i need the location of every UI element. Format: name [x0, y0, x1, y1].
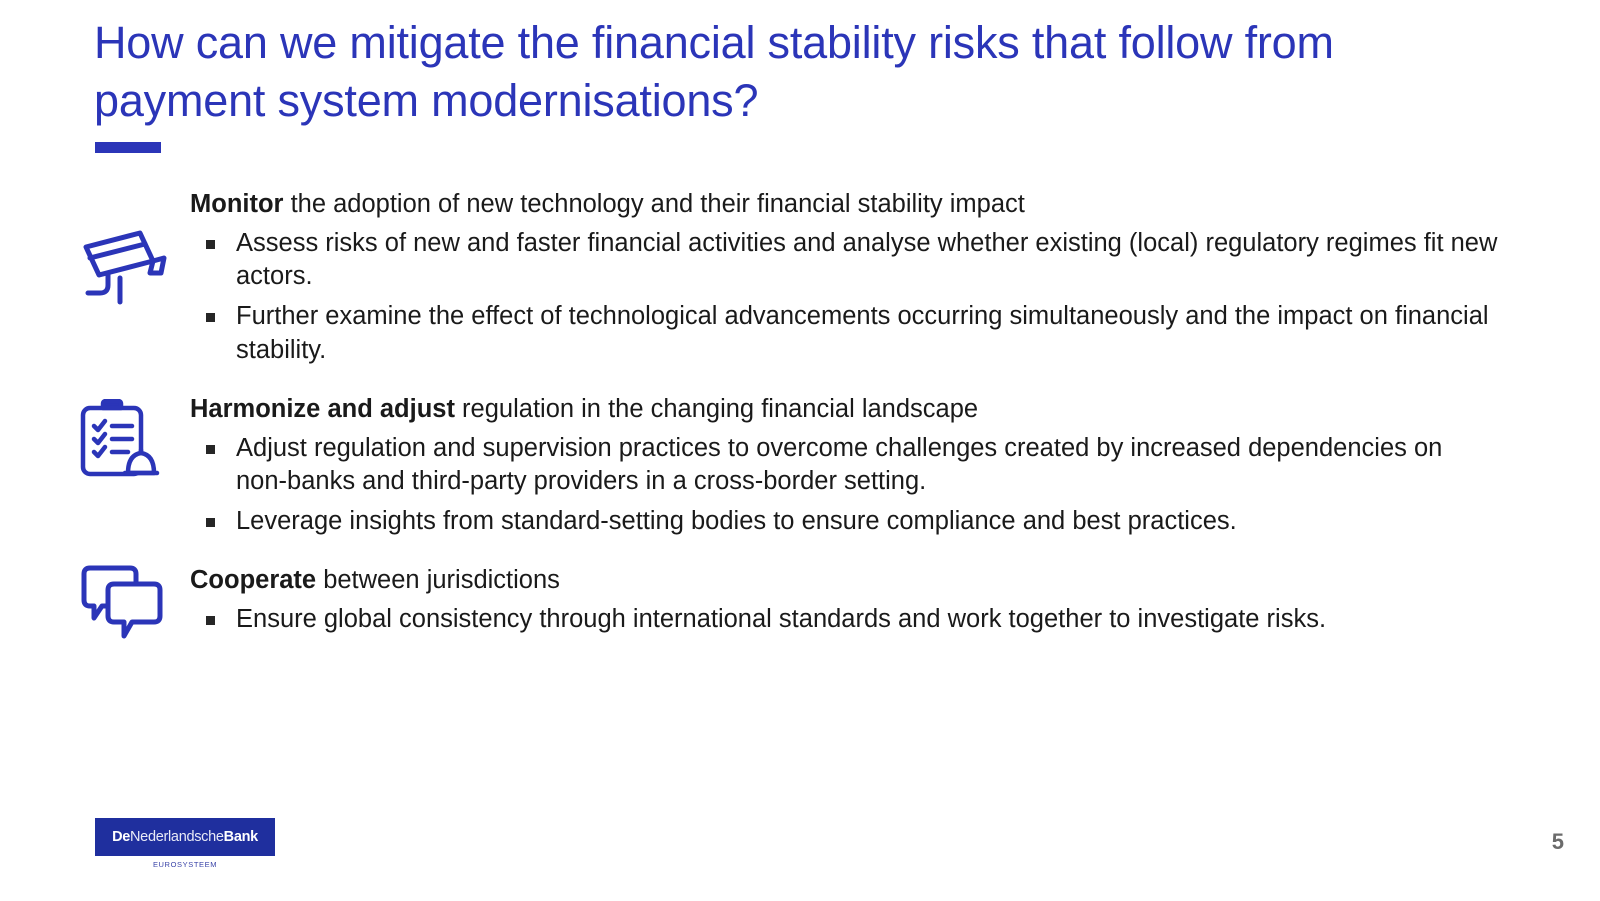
icon-cell — [0, 393, 190, 481]
logo: DeNederlandscheBank EUROSYSTEEM — [95, 818, 275, 869]
icon-cell — [0, 564, 190, 644]
bullet-square-icon — [206, 240, 215, 249]
logo-mid: Nederlandsche — [130, 829, 224, 845]
list-item-text: Ensure global consistency through intern… — [236, 605, 1326, 633]
section-heading-lead: Monitor — [190, 190, 283, 218]
section-harmonize: Harmonize and adjust regulation in the c… — [0, 393, 1600, 539]
logo-text: DeNederlandscheBank — [112, 829, 258, 845]
section-heading-rest: between jurisdictions — [316, 566, 560, 594]
section-heading: Monitor the adoption of new technology a… — [190, 188, 1540, 221]
logo-suffix: Bank — [224, 829, 258, 845]
section-heading-lead: Cooperate — [190, 566, 316, 594]
section-cooperate: Cooperate between jurisdictions Ensure g… — [0, 564, 1600, 644]
bullet-list: Ensure global consistency through intern… — [190, 603, 1540, 636]
page-title: How can we mitigate the financial stabil… — [94, 14, 1514, 129]
section-monitor: Monitor the adoption of new technology a… — [0, 188, 1600, 367]
list-item: Assess risks of new and faster financial… — [190, 227, 1500, 293]
slide: How can we mitigate the financial stabil… — [0, 0, 1600, 901]
logo-box: DeNederlandscheBank — [95, 818, 275, 856]
clipboard-bell-icon — [78, 399, 164, 481]
list-item-text: Assess risks of new and faster financial… — [236, 229, 1497, 290]
icon-cell — [0, 188, 190, 308]
section-text: Harmonize and adjust regulation in the c… — [190, 393, 1600, 539]
list-item: Ensure global consistency through intern… — [190, 603, 1500, 636]
page-number: 5 — [1552, 829, 1564, 855]
section-text: Cooperate between jurisdictions Ensure g… — [190, 564, 1600, 636]
section-heading-rest: regulation in the changing financial lan… — [455, 395, 978, 423]
content-area: Monitor the adoption of new technology a… — [0, 188, 1600, 644]
section-heading-rest: the adoption of new technology and their… — [283, 190, 1024, 218]
section-text: Monitor the adoption of new technology a… — [190, 188, 1600, 367]
section-heading: Cooperate between jurisdictions — [190, 564, 1540, 597]
title-block: How can we mitigate the financial stabil… — [94, 14, 1514, 129]
list-item: Further examine the effect of technologi… — [190, 300, 1500, 366]
list-item: Leverage insights from standard-setting … — [190, 505, 1500, 538]
list-item-text: Leverage insights from standard-setting … — [236, 507, 1237, 535]
speech-bubbles-icon — [78, 564, 166, 644]
cctv-camera-icon — [78, 230, 170, 308]
bullet-square-icon — [206, 445, 215, 454]
list-item: Adjust regulation and supervision practi… — [190, 432, 1500, 498]
bullet-square-icon — [206, 616, 215, 625]
bullet-list: Assess risks of new and faster financial… — [190, 227, 1540, 367]
bullet-list: Adjust regulation and supervision practi… — [190, 432, 1540, 538]
logo-prefix: De — [112, 829, 130, 845]
list-item-text: Adjust regulation and supervision practi… — [236, 434, 1442, 495]
section-heading-lead: Harmonize and adjust — [190, 395, 455, 423]
title-accent-rule — [95, 142, 161, 153]
bullet-square-icon — [206, 313, 215, 322]
bullet-square-icon — [206, 518, 215, 527]
logo-subtitle: EUROSYSTEEM — [95, 860, 275, 869]
list-item-text: Further examine the effect of technologi… — [236, 302, 1489, 363]
section-heading: Harmonize and adjust regulation in the c… — [190, 393, 1540, 426]
